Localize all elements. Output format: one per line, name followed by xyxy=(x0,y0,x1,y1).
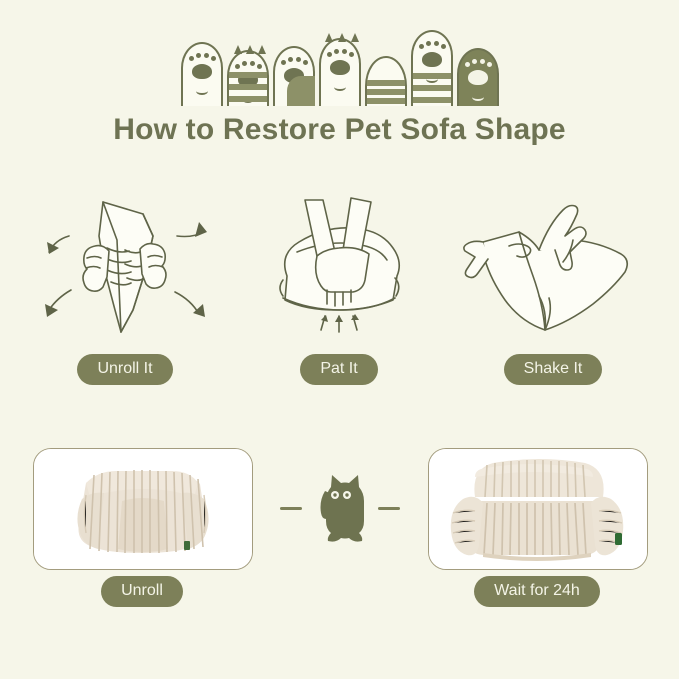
paw-stripes xyxy=(413,66,451,106)
paw-claw xyxy=(325,33,333,42)
bottom-label-unroll-wrap: Unroll xyxy=(33,576,251,607)
paw-pads xyxy=(275,57,313,68)
paw-icon-1 xyxy=(181,42,223,106)
paw-main-pad xyxy=(192,64,212,79)
shake-illustration xyxy=(453,180,653,350)
bottom-label-wait-for-24h: Wait for 24h xyxy=(474,576,600,607)
paw-claw xyxy=(258,45,266,54)
paw-header-strip xyxy=(0,24,679,106)
paw-pads xyxy=(321,49,359,60)
separator-dash-left xyxy=(280,507,302,510)
paw-icon-5 xyxy=(365,56,407,106)
unroll-illustration xyxy=(25,180,225,350)
separator-dash-right xyxy=(378,507,400,510)
paw-stripes xyxy=(367,58,405,106)
paw-color-blob xyxy=(287,76,315,106)
paw-claw xyxy=(338,33,346,42)
paw-icon-2 xyxy=(227,50,269,106)
paw-main-pad xyxy=(468,70,488,85)
steps-row: Unroll It xyxy=(18,180,661,385)
center-separator xyxy=(262,448,417,568)
paw-mouth xyxy=(334,83,346,91)
paw-mouth xyxy=(196,87,208,95)
cat-silhouette-icon xyxy=(311,473,369,543)
bottom-section: Unroll xyxy=(0,448,679,638)
paw-claw xyxy=(351,33,359,42)
paw-claw xyxy=(246,45,254,54)
paw-pads xyxy=(413,41,451,52)
step-shake-it: Shake It xyxy=(446,180,660,385)
step-pat-it: Pat It xyxy=(232,180,446,385)
paw-stripes xyxy=(229,58,267,106)
paw-main-pad xyxy=(422,52,442,67)
page-title: How to Restore Pet Sofa Shape xyxy=(0,113,679,147)
step-label-shake-it: Shake It xyxy=(504,354,603,385)
paw-pads xyxy=(459,59,497,70)
paw-icon-6 xyxy=(411,30,453,106)
paw-icon-4 xyxy=(319,38,361,106)
step-unroll-it: Unroll It xyxy=(18,180,232,385)
paw-icon-7 xyxy=(457,48,499,106)
step-label-pat-it: Pat It xyxy=(300,354,377,385)
paw-icon-3 xyxy=(273,46,315,106)
photo-card-rolled-bed xyxy=(33,448,253,570)
pat-illustration xyxy=(239,180,439,350)
paw-main-pad xyxy=(330,60,350,75)
paw-claw xyxy=(234,45,242,54)
step-label-unroll-it: Unroll It xyxy=(77,354,172,385)
bottom-label-unroll: Unroll xyxy=(101,576,183,607)
photo-card-expanded-sofa xyxy=(428,448,648,570)
paw-pads xyxy=(183,53,221,64)
bottom-label-wait-wrap: Wait for 24h xyxy=(428,576,646,607)
paw-mouth xyxy=(472,93,484,101)
